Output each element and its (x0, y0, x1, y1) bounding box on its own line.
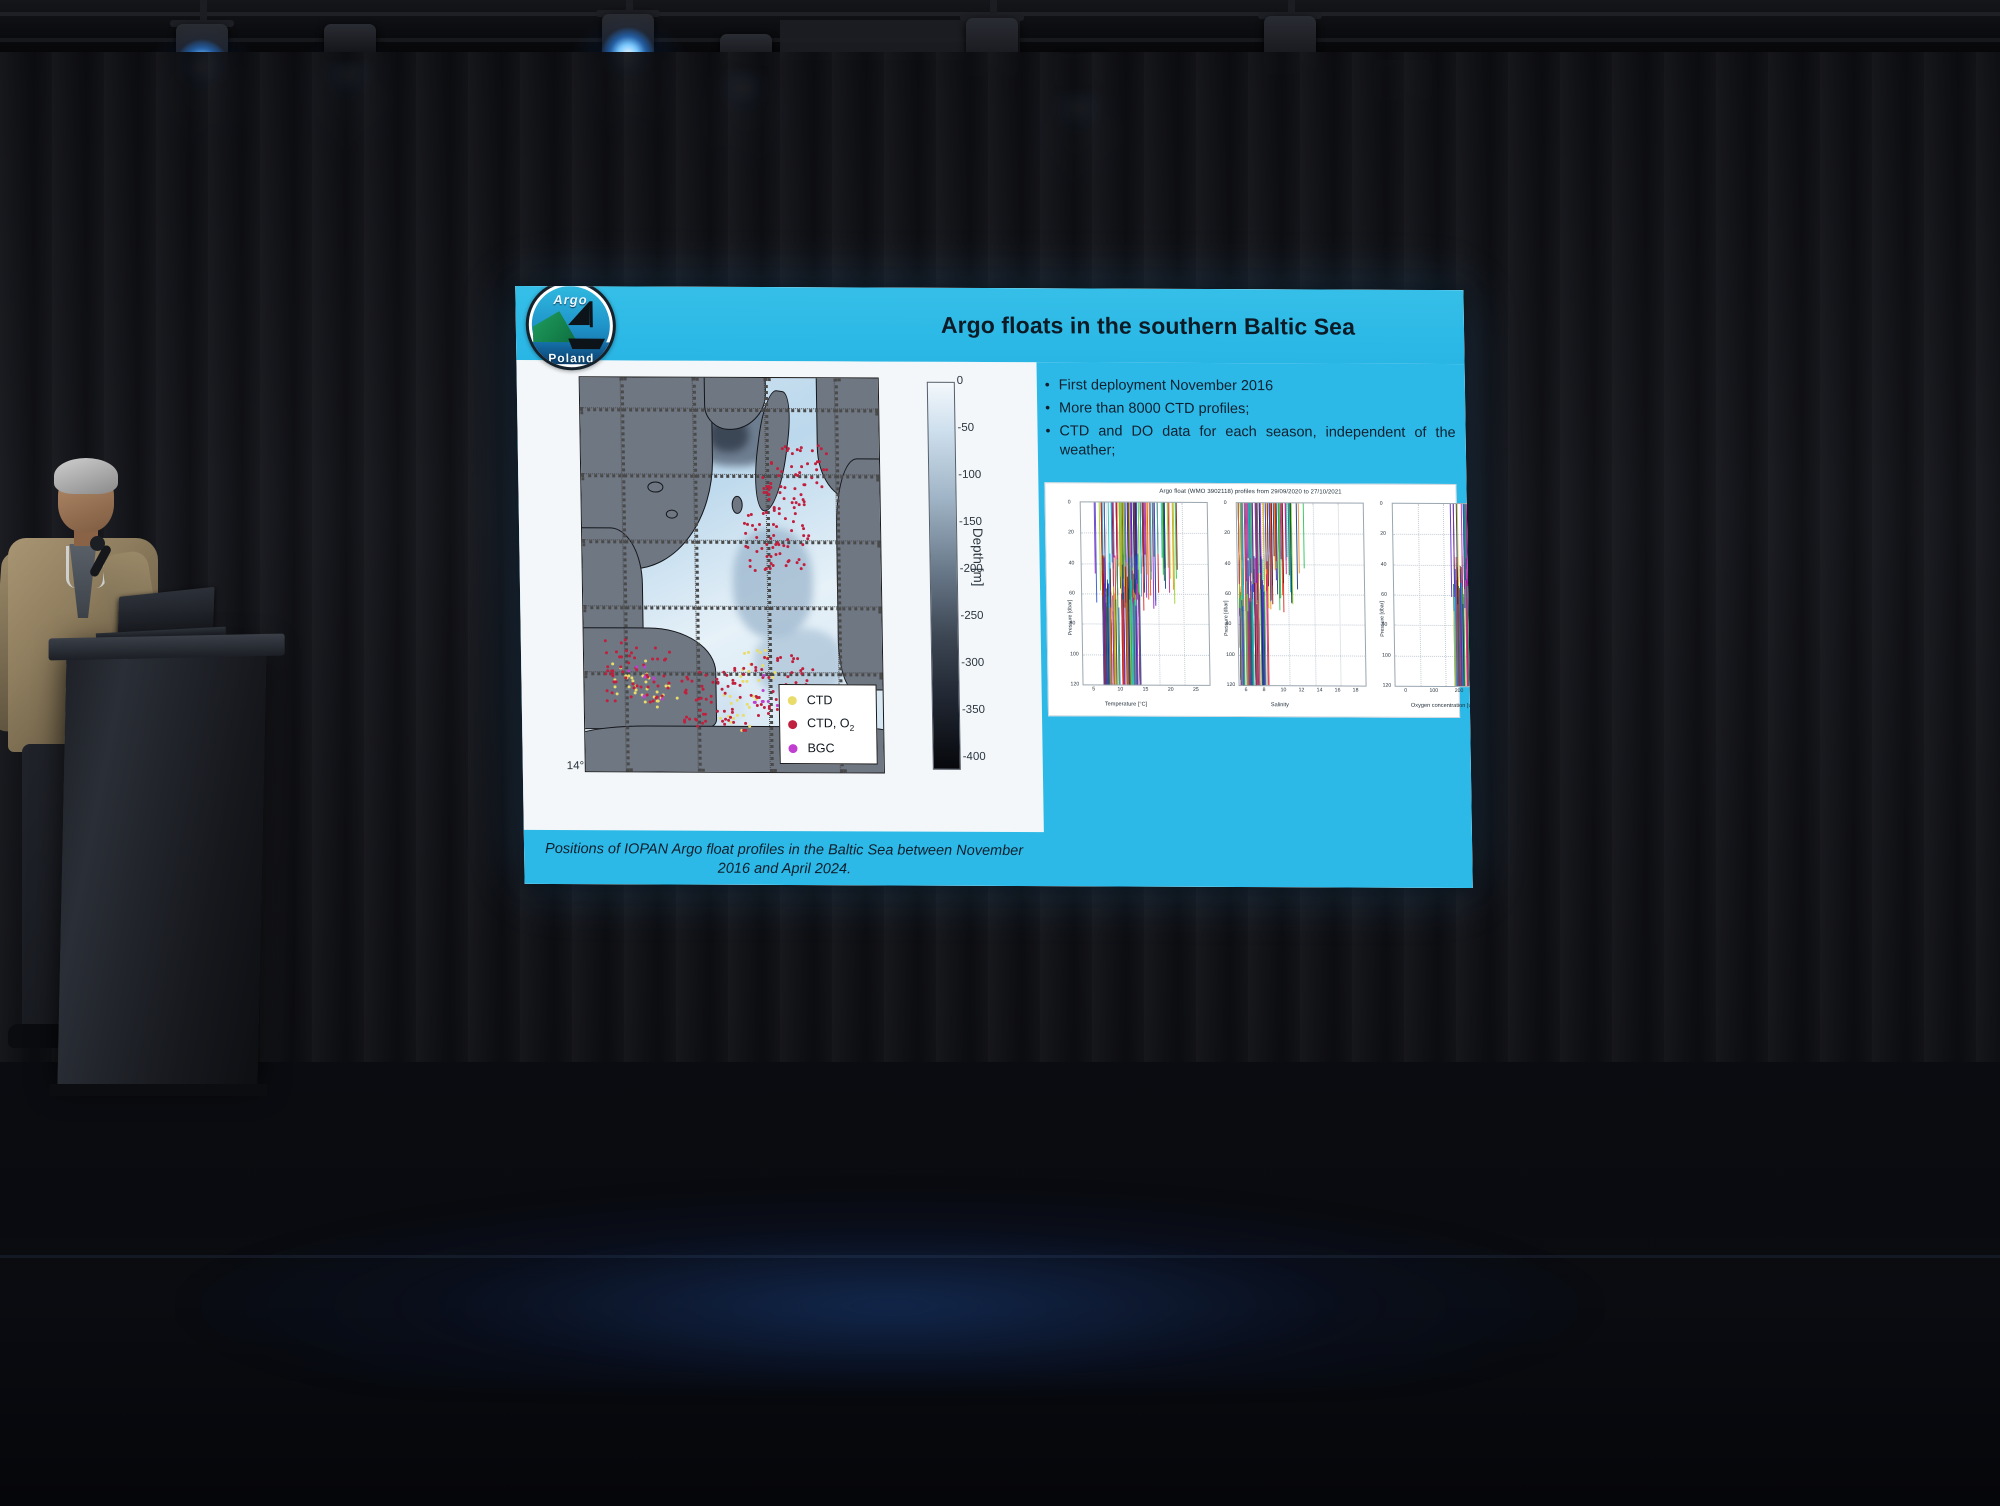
x-tick-label: 5 (1092, 686, 1095, 692)
float-profile-dot (726, 685, 729, 688)
y-tick-label: 20 (1068, 530, 1074, 536)
float-profile-dot (744, 531, 747, 534)
float-profile-dot (794, 501, 797, 504)
float-profile-dot (739, 695, 742, 698)
float-profile-dot (786, 449, 789, 452)
float-profile-dot (704, 719, 707, 722)
float-profile-dot (802, 563, 805, 566)
float-profile-dot (748, 706, 751, 709)
float-profile-dot (790, 465, 793, 468)
float-profile-dot (759, 651, 762, 654)
x-axis-title-temperature: Temperature [°C] (1105, 701, 1147, 707)
float-profile-dot (610, 691, 613, 694)
float-profile-dot (743, 667, 746, 670)
float-profile-dot (755, 550, 758, 553)
float-profile-dot (644, 700, 647, 703)
float-profile-dot (756, 704, 759, 707)
float-profile-dot (786, 545, 789, 548)
x-tick-label: 10 (1281, 687, 1287, 693)
bullet-marker-icon: • (1045, 422, 1050, 460)
float-profile-dot (757, 696, 760, 699)
profile-trace (1302, 503, 1304, 568)
float-profile-dot (778, 507, 781, 510)
y-tick-label: 20 (1380, 531, 1386, 537)
float-profile-dot (750, 693, 753, 696)
float-profile-dot (799, 493, 802, 496)
float-profile-dot (761, 700, 764, 703)
float-profile-dot (806, 463, 809, 466)
float-profile-dot (684, 689, 687, 692)
float-profile-dot (633, 657, 636, 660)
stage-edge (0, 1255, 2000, 1258)
float-profile-dot (651, 657, 654, 660)
float-profile-dot (790, 529, 793, 532)
float-profile-dot (633, 686, 636, 689)
y-tick-label: 80 (1070, 621, 1076, 627)
y-tick-label: 0 (1068, 499, 1071, 505)
float-profile-dot (619, 665, 622, 668)
y-tick-label: 60 (1225, 591, 1231, 597)
depth-colorbar: 0 -50 -100 -150 -200 -250 -300 -350 -400… (909, 378, 1025, 778)
colorbar-tick: -100 (958, 469, 981, 481)
float-profile-dot (738, 684, 741, 687)
y-tick-label: 120 (1227, 682, 1236, 688)
x-tick-label: 14 (1317, 687, 1323, 693)
float-profile-dot (772, 546, 775, 549)
x-axis-title-salinity: Salinity (1271, 702, 1289, 708)
float-profile-dot (642, 695, 645, 698)
podium (57, 648, 266, 1086)
float-profile-dot (742, 713, 745, 716)
float-profile-dot (750, 523, 753, 526)
profile-trace (1157, 503, 1159, 554)
float-profile-dot (810, 476, 813, 479)
colorbar-tick: -50 (957, 422, 974, 434)
float-profile-dot (747, 651, 750, 654)
float-profile-dot (803, 503, 806, 506)
y-tick-label: 0 (1224, 500, 1227, 506)
colorbar-tick: -350 (962, 704, 985, 716)
float-profile-dot (739, 675, 742, 678)
y-tick-label: 80 (1226, 621, 1232, 627)
float-profile-dot (753, 701, 756, 704)
profile-trace (1282, 503, 1284, 583)
projection-screen: Argo Poland Argo floats in the southern … (515, 286, 1473, 888)
x-tick-label: 12 (1299, 687, 1305, 693)
y-tick-label: 0 (1380, 501, 1383, 507)
float-profile-dot (762, 512, 765, 515)
float-profile-dot (815, 481, 818, 484)
float-profile-dot (613, 680, 616, 683)
float-profile-dot (639, 686, 642, 689)
colorbar-tick: -150 (959, 516, 982, 528)
float-profile-dot (766, 699, 769, 702)
float-profile-dot (803, 484, 806, 487)
x-tick-label: 8 (1263, 687, 1266, 693)
float-profile-dot (776, 541, 779, 544)
float-profile-dot (732, 720, 735, 723)
float-profile-dot (760, 547, 763, 550)
float-profile-dot (748, 559, 751, 562)
bullet-text: More than 8000 CTD profiles; (1059, 399, 1250, 419)
float-profile-dot (620, 641, 623, 644)
float-profile-dot (772, 690, 775, 693)
colorbar-tick: -400 (963, 751, 986, 763)
float-profile-dot (645, 693, 648, 696)
x-tick-label: 15 (1143, 687, 1149, 693)
bullet-text: First deployment November 2016 (1059, 376, 1274, 396)
float-profile-dot (656, 695, 659, 698)
float-profile-dot (792, 520, 795, 523)
float-profile-dot (815, 468, 818, 471)
argo-profile-figure: Argo float (WMO 3902118) profiles from 2… (1044, 482, 1460, 718)
float-profile-dot (705, 697, 708, 700)
float-profile-dot (784, 564, 787, 567)
float-profile-dot (644, 680, 647, 683)
float-profile-dot (623, 638, 626, 641)
float-profile-dot (811, 668, 814, 671)
float-profile-dot (778, 552, 781, 555)
baltic-sea-map: CTD CTD, O2 BGC (579, 376, 885, 773)
argo-poland-logo-icon: Argo Poland (525, 286, 616, 370)
legend-item-bgc: BGC (788, 736, 872, 760)
float-profile-dot (683, 721, 686, 724)
float-profile-dot (791, 453, 794, 456)
float-profile-dot (743, 652, 746, 655)
bullet-list: • First deployment November 2016 • More … (1045, 376, 1456, 465)
map-plot-area: CTD CTD, O2 BGC (579, 376, 885, 773)
float-profile-dot (744, 722, 747, 725)
temperature-profile-panel (1080, 501, 1211, 686)
oxygen-profile-panel (1392, 503, 1473, 688)
presenter-hair (54, 458, 118, 494)
float-profile-dot (767, 676, 770, 679)
y-tick-label: 60 (1069, 590, 1075, 596)
float-profile-dot (724, 691, 727, 694)
float-profile-dot (745, 679, 748, 682)
y-tick-label: 40 (1225, 561, 1231, 567)
float-profile-dot (761, 664, 764, 667)
profile-trace (1176, 503, 1178, 570)
float-profile-dot (744, 728, 747, 731)
float-profile-dot (780, 485, 783, 488)
float-profile-dot (802, 527, 805, 530)
float-profile-dot (800, 465, 803, 468)
float-profile-dot (784, 486, 787, 489)
right-column: • First deployment November 2016 • More … (1040, 362, 1463, 834)
y-tick-label: 100 (1382, 652, 1391, 658)
float-profile-dot (676, 697, 679, 700)
y-axis-title-pressure-3: Pressure [dbar] (1379, 601, 1386, 636)
float-profile-dot (792, 507, 795, 510)
x-tick-label: 20 (1168, 687, 1174, 693)
colorbar-gradient (927, 382, 961, 770)
y-tick-label: 120 (1070, 681, 1079, 687)
float-profile-dot (715, 678, 718, 681)
float-profile-dot (733, 682, 736, 685)
float-profile-dot (746, 523, 749, 526)
float-profile-dot (799, 449, 802, 452)
logo-top-text: Argo (528, 292, 612, 307)
float-profile-dot (605, 651, 608, 654)
y-tick-label: 40 (1381, 561, 1387, 567)
y-tick-label: 40 (1069, 560, 1075, 566)
float-profile-dot (790, 671, 793, 674)
float-profile-dot (796, 448, 799, 451)
y-tick-label: 120 (1383, 683, 1392, 689)
float-profile-dot (720, 688, 723, 691)
float-profile-dot (763, 706, 766, 709)
float-profile-dot (620, 655, 623, 658)
float-profile-dot (778, 512, 781, 515)
map-legend: CTD CTD, O2 BGC (778, 684, 877, 764)
x-axis-title-oxygen: Oxygen concentration [umol kg⁻¹] (1411, 703, 1473, 709)
float-profile-dot (662, 675, 665, 678)
gridline (1083, 624, 1209, 626)
slide-header: Argo Poland Argo floats in the southern … (515, 286, 1464, 364)
float-profile-dot (750, 663, 753, 666)
float-profile-dot (604, 672, 607, 675)
legend-item-ctd: CTD (788, 688, 872, 712)
float-profile-dot (606, 669, 609, 672)
float-profile-dot (624, 676, 627, 679)
float-profile-dot (794, 487, 797, 490)
legend-swatch-ctd-o2 (788, 720, 797, 729)
float-profile-dot (825, 452, 828, 455)
bullet-text: CTD and DO data for each season, indepen… (1059, 422, 1456, 461)
float-profile-dot (725, 674, 728, 677)
float-profile-dot (729, 702, 732, 705)
float-profile-dot (757, 714, 760, 717)
float-profile-dot (799, 669, 802, 672)
float-profile-dot (792, 497, 795, 500)
legend-label-ctd-o2: CTD, O2 (807, 716, 854, 733)
float-profile-dot (794, 512, 797, 515)
bullet-item: • First deployment November 2016 (1045, 376, 1455, 397)
float-profile-dot (779, 656, 782, 659)
float-profile-dot (786, 675, 789, 678)
float-profile-dot (801, 498, 804, 501)
x-tick-label: 18 (1353, 688, 1359, 694)
float-profile-dot (758, 523, 761, 526)
profile-trace (1138, 592, 1141, 684)
float-profile-dot (742, 673, 745, 676)
float-profile-dot (625, 649, 628, 652)
float-profile-dot (801, 524, 804, 527)
map-panel: 59°N 58°N 57°N 56°N 55°N 54°N 14°E 16°E … (516, 360, 1043, 832)
x-tick-label: 0 (1404, 688, 1407, 694)
float-profile-dot (685, 715, 688, 718)
float-profile-dot (646, 685, 649, 688)
legend-label-bgc: BGC (807, 741, 834, 755)
float-profile-dot (681, 679, 684, 682)
float-profile-dot (766, 657, 769, 660)
float-profile-dot (722, 671, 725, 674)
float-profile-dot (783, 497, 786, 500)
float-profile-dot (627, 661, 630, 664)
profile-axis-ticks: 5101520250204060801001206810121416180204… (1045, 483, 1455, 485)
float-profile-dot (702, 687, 705, 690)
y-tick-label: 20 (1224, 530, 1230, 536)
colorbar-title: Depth [m] (970, 528, 986, 587)
legend-label-ctd: CTD (807, 693, 833, 707)
float-profile-dot (796, 657, 799, 660)
float-profile-dot (695, 698, 698, 701)
microphone-head-icon (90, 536, 105, 551)
float-profile-dot (661, 697, 664, 700)
float-profile-dot (786, 538, 789, 541)
colorbar-tick: -250 (960, 610, 983, 622)
podium-top (49, 634, 285, 661)
y-axis-title-pressure-2: Pressure [dbar] (1223, 601, 1230, 636)
float-profile-dot (630, 651, 633, 654)
float-profile-dot (615, 692, 618, 695)
float-profile-dot (769, 537, 772, 540)
float-profile-dot (791, 501, 794, 504)
colorbar-tick: 0 (957, 375, 964, 387)
float-profile-dot (821, 485, 824, 488)
x-tick-label: 25 (1193, 687, 1199, 693)
bullet-marker-icon: • (1045, 399, 1050, 418)
float-profile-dot (788, 559, 791, 562)
float-profile-dot (606, 699, 609, 702)
float-profile-dot (652, 677, 655, 680)
float-profile-dot (628, 654, 631, 657)
float-profile-dot (765, 543, 768, 546)
float-profile-dot (784, 517, 787, 520)
float-profile-dot (748, 565, 751, 568)
float-profile-dot (732, 678, 735, 681)
float-profile-dot (630, 677, 633, 680)
colorbar-tick: -300 (961, 657, 984, 669)
float-profile-dot (798, 503, 801, 506)
bullet-marker-icon: • (1045, 376, 1050, 395)
x-tick-label: 16 (1335, 687, 1341, 693)
float-profile-dot (727, 719, 730, 722)
float-profile-dot (742, 680, 745, 683)
profile-trace (1112, 503, 1114, 557)
float-profile-dot (643, 675, 646, 678)
float-profile-dot (765, 491, 768, 494)
float-profile-dot (750, 513, 753, 516)
gridline (1082, 593, 1208, 595)
x-tick-label: 100 (1429, 688, 1438, 694)
float-profile-dot (771, 676, 774, 679)
bullet-item: • More than 8000 CTD profiles; (1045, 399, 1455, 420)
float-profile-dot (656, 657, 659, 660)
float-profile-dot (761, 689, 764, 692)
float-profile-dot (806, 537, 809, 540)
x-tick-label: 10 (1117, 687, 1123, 693)
float-profile-dot (802, 534, 805, 537)
float-profile-dot (795, 561, 798, 564)
y-tick-label: 60 (1381, 592, 1387, 598)
float-profile-dot (667, 686, 670, 689)
x-tick-label: 6 (1245, 687, 1248, 693)
float-profile-dot (811, 449, 814, 452)
legend-item-ctd-o2: CTD, O2 (788, 712, 872, 736)
legend-swatch-ctd (788, 696, 797, 705)
float-profile-dot (765, 555, 768, 558)
float-profile-dot (748, 725, 751, 728)
stage-scene: Argo Poland Argo floats in the southern … (0, 0, 2000, 1506)
float-profile-dot (760, 668, 763, 671)
y-tick-label: 100 (1070, 651, 1079, 657)
float-profile-dot (613, 685, 616, 688)
float-profile-dot (716, 682, 719, 685)
float-profile-dot (654, 646, 657, 649)
float-profile-dot (606, 665, 609, 668)
float-profile-dot (780, 470, 783, 473)
slide-body: 59°N 58°N 57°N 56°N 55°N 54°N 14°E 16°E … (516, 360, 1472, 888)
presentation-slide: Argo Poland Argo floats in the southern … (515, 286, 1473, 888)
float-profile-dot (695, 718, 698, 721)
profile-figure-title: Argo float (WMO 3902118) profiles from 2… (1045, 488, 1455, 496)
logo-bottom-text: Poland (529, 351, 613, 365)
legend-swatch-bgc (788, 744, 797, 753)
float-profile-dot (635, 646, 638, 649)
stage-floor-light-wash (180, 1186, 1600, 1386)
float-profile-dot (801, 672, 804, 675)
slide-title: Argo floats in the southern Baltic Sea (846, 311, 1451, 341)
float-profile-dot (745, 703, 748, 706)
float-profile-dot (775, 698, 778, 701)
float-profile-dot (754, 695, 757, 698)
float-profile-dot (704, 674, 707, 677)
float-profile-dot (709, 701, 712, 704)
y-axis-title-pressure-1: Pressure [dbar] (1067, 600, 1074, 635)
podium-base (49, 1084, 267, 1096)
salinity-profile-panel (1236, 502, 1367, 687)
float-profile-dot (767, 498, 770, 501)
float-profile-dot (631, 683, 634, 686)
x-tick-label: 200 (1455, 688, 1464, 694)
bullet-item: • CTD and DO data for each season, indep… (1045, 422, 1456, 461)
figure-caption: Positions of IOPAN Argo float profiles i… (534, 840, 1035, 880)
y-tick-label: 80 (1382, 622, 1388, 628)
y-tick-label: 100 (1226, 652, 1235, 658)
float-profile-dot (778, 491, 781, 494)
float-profile-dot (767, 485, 770, 488)
gridline (1083, 654, 1209, 656)
float-profile-dot (817, 460, 820, 463)
float-profile-dot (644, 659, 647, 662)
float-profile-dot (691, 679, 694, 682)
float-profile-dot (606, 689, 609, 692)
float-profile-dot (656, 690, 659, 693)
